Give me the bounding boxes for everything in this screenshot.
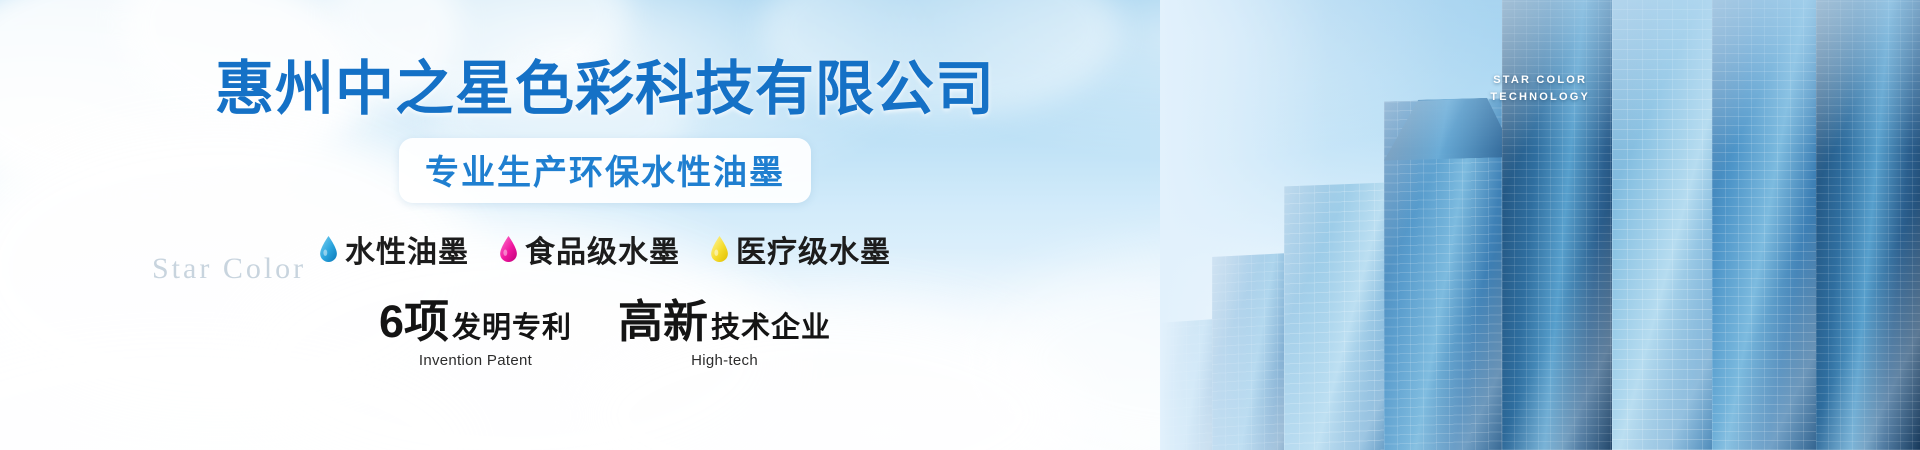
water-drop-icon	[319, 236, 338, 262]
brand-mark-line-1: STAR COLOR	[1490, 72, 1590, 89]
feature-label: 医疗级水墨	[736, 227, 891, 271]
water-drop-icon	[499, 236, 518, 262]
feature-label: 食品级水墨	[525, 227, 680, 271]
badge-subtext: 发明专利	[452, 314, 572, 343]
badge-highlight: 6项	[379, 299, 449, 344]
credential-badge-hightech: 高新 技术企业 High-tech	[618, 299, 831, 369]
banner-content: 惠州中之星色彩科技有限公司 专业生产环保水性油墨 水性油墨	[0, 0, 1210, 450]
feature-list: 水性油墨 食品级水墨	[319, 227, 891, 271]
building-b	[1284, 182, 1400, 450]
badge-subtext: 技术企业	[711, 314, 831, 343]
building-f	[1712, 0, 1828, 450]
feature-item: 医疗级水墨	[710, 227, 891, 271]
credential-badges: 6项 发明专利 Invention Patent 高新 技术企业 High-te…	[379, 299, 831, 369]
building-d	[1502, 0, 1620, 450]
water-drop-icon	[710, 236, 729, 262]
building-c	[1384, 98, 1516, 450]
feature-label: 水性油墨	[345, 227, 469, 271]
badge-chinese-text: 高新 技术企业	[618, 299, 831, 344]
building-g	[1816, 0, 1920, 450]
badge-english-text: Invention Patent	[379, 352, 572, 369]
company-title: 惠州中之星色彩科技有限公司	[215, 58, 995, 121]
skyscraper-skyline	[1160, 0, 1920, 450]
badge-highlight: 高新	[618, 299, 708, 344]
brand-mark-line-2: TECHNOLOGY	[1490, 89, 1590, 106]
badge-chinese-text: 6项 发明专利	[379, 299, 572, 344]
badge-english-text: High-tech	[618, 352, 831, 369]
company-hero-banner: Star Color STAR COLOR TECHNOLOGY 惠州中之星色彩…	[0, 0, 1920, 450]
building-e	[1612, 0, 1724, 450]
credential-badge-patent: 6项 发明专利 Invention Patent	[379, 299, 572, 369]
brand-mark: STAR COLOR TECHNOLOGY	[1490, 72, 1590, 105]
feature-item: 食品级水墨	[499, 227, 680, 271]
subtitle-badge: 专业生产环保水性油墨	[399, 138, 811, 203]
feature-item: 水性油墨	[319, 227, 469, 271]
